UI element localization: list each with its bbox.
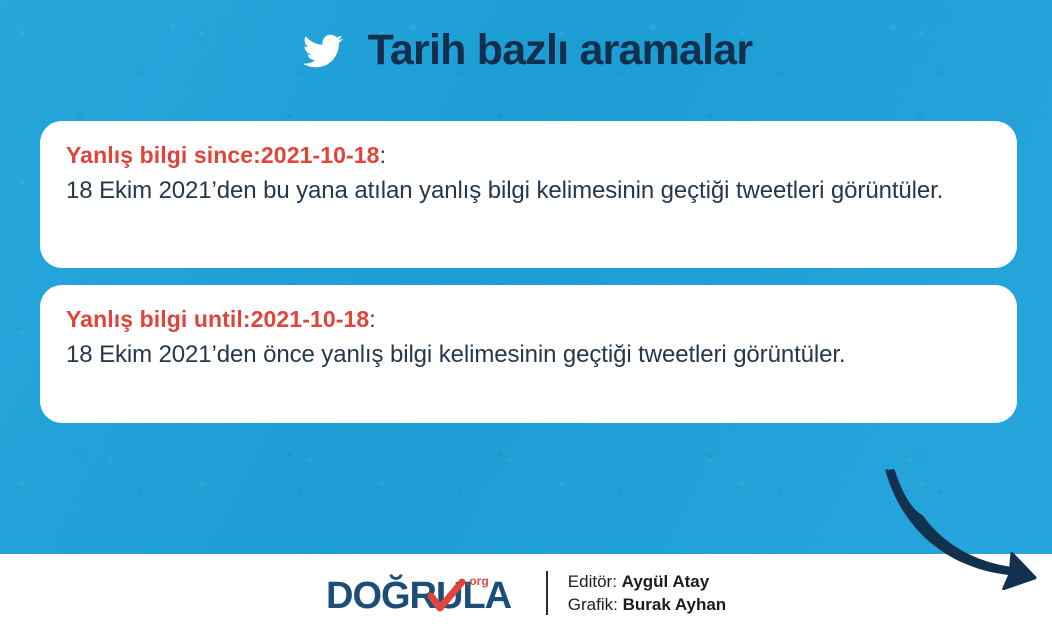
card-heading-text: Yanlış bilgi until:2021-10-18 (66, 306, 369, 332)
dogrula-logo[interactable]: DOĞRULA .org (326, 572, 526, 614)
header: Tarih bazlı aramalar (0, 14, 1052, 86)
card-heading-colon: : (369, 306, 376, 332)
card-heading-colon: : (380, 142, 387, 168)
page-title: Tarih bazlı aramalar (368, 29, 753, 72)
credits: Editör: Aygül Atay Grafik: Burak Ayhan (568, 571, 726, 616)
credit-graphics-label: Grafik: (568, 595, 618, 614)
card-heading: Yanlış bilgi until:2021-10-18: (66, 305, 991, 334)
footer-divider (546, 571, 548, 615)
credit-editor-value: Aygül Atay (622, 572, 710, 591)
card-body-text: 18 Ekim 2021’den önce yanlış bilgi kelim… (66, 338, 991, 372)
card-body-text: 18 Ekim 2021’den bu yana atılan yanlış b… (66, 174, 991, 208)
footer: DOĞRULA .org Editör: Aygül Atay Grafik: … (0, 554, 1052, 632)
card-heading-text: Yanlış bilgi since:2021-10-18 (66, 142, 380, 168)
credit-editor: Editör: Aygül Atay (568, 571, 726, 592)
infographic-canvas: Tarih bazlı aramalar Yanlış bilgi since:… (0, 0, 1052, 632)
twitter-bird-icon (300, 31, 346, 71)
info-card-since: Yanlış bilgi since:2021-10-18: 18 Ekim 2… (40, 121, 1017, 268)
credit-editor-label: Editör: (568, 572, 617, 591)
card-heading: Yanlış bilgi since:2021-10-18: (66, 141, 991, 170)
info-card-until: Yanlış bilgi until:2021-10-18: 18 Ekim 2… (40, 285, 1017, 423)
credit-graphics: Grafik: Burak Ayhan (568, 594, 726, 615)
svg-text:.org: .org (466, 574, 489, 588)
credit-graphics-value: Burak Ayhan (623, 595, 727, 614)
